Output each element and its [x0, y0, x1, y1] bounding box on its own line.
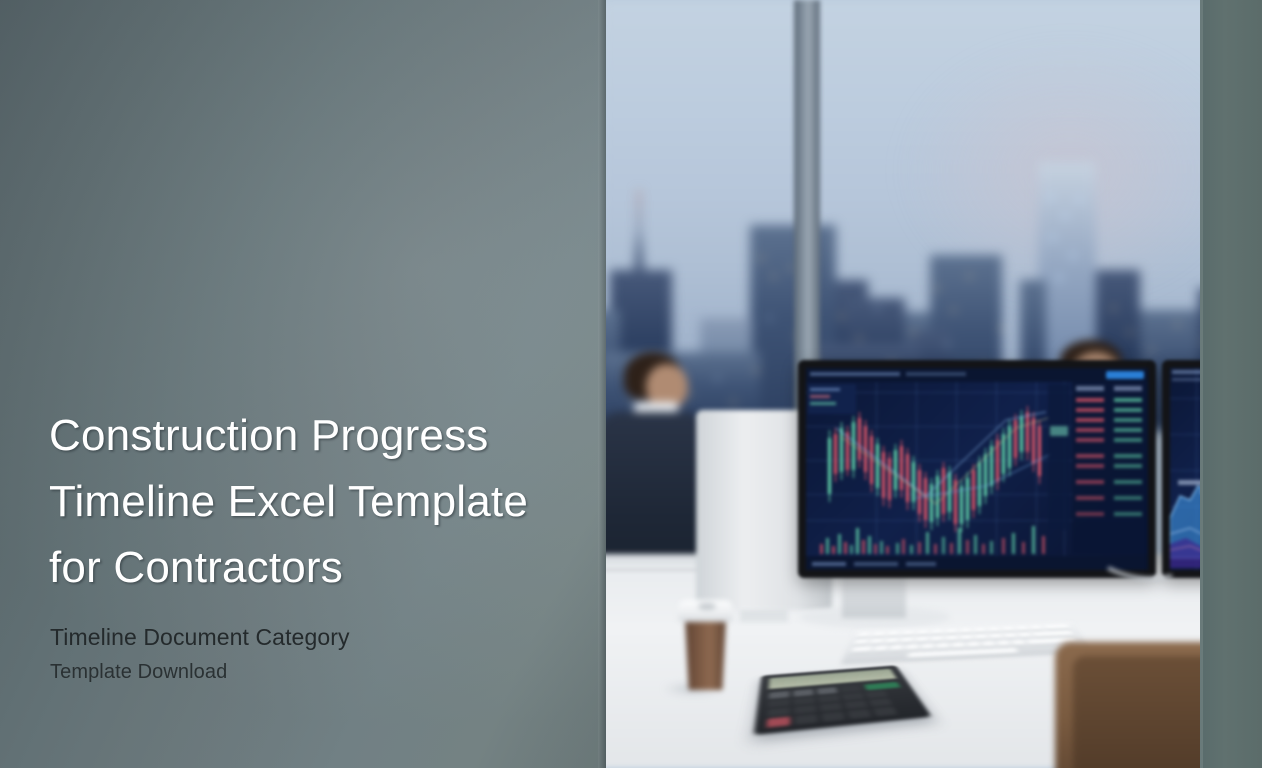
presentation-slide: Construction Progress Timeline Excel Tem… — [0, 0, 1262, 768]
title-line-1: Construction Progress — [49, 411, 489, 460]
hero-photo — [600, 0, 1262, 768]
cup-lid — [678, 600, 733, 622]
panel-right-edge — [598, 0, 606, 768]
trading-screen — [806, 368, 1148, 570]
wall-column — [1200, 0, 1262, 768]
subtitle-download: Template Download — [50, 658, 227, 686]
text-panel — [0, 0, 606, 768]
subtitle-category: Timeline Document Category — [50, 622, 350, 652]
cup-body — [682, 616, 729, 690]
wall-column-highlight — [1200, 0, 1203, 768]
title-line-3: for Contractors — [49, 543, 343, 592]
panel-texture — [0, 0, 606, 768]
coffee-cup — [678, 600, 733, 690]
page-title: Construction Progress Timeline Excel Tem… — [49, 403, 569, 601]
trading-monitor — [798, 360, 1156, 578]
cup-lid-hole — [698, 603, 716, 610]
title-line-2: Timeline Excel Template — [49, 477, 528, 526]
